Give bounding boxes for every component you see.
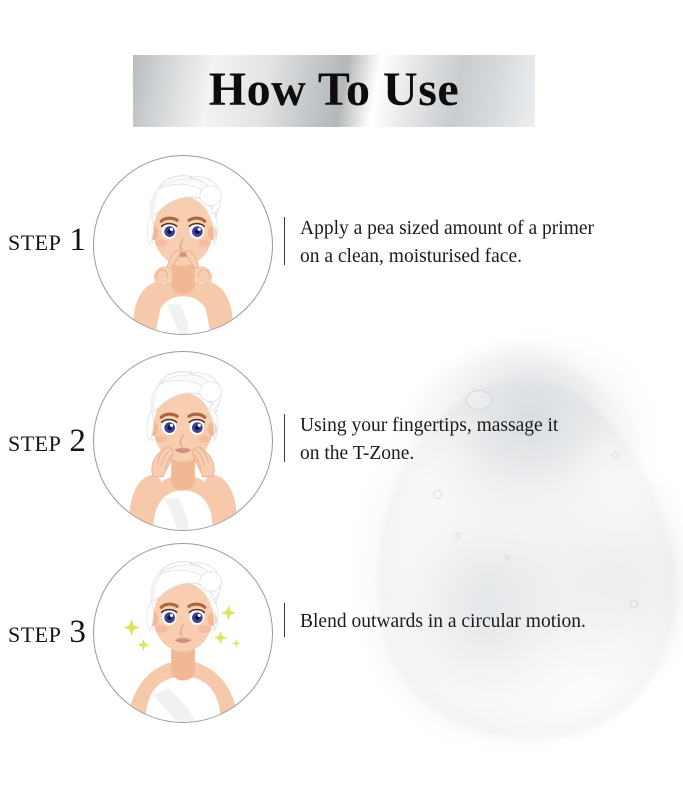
step-word-1: STEP xyxy=(8,230,61,256)
gel-bubble-icon xyxy=(505,555,510,560)
step-illustration-3 xyxy=(93,543,273,723)
page-title: How To Use xyxy=(133,55,535,127)
how-to-use-infographic: How To Use STEP 1 xyxy=(0,0,683,800)
step-number-3: 3 xyxy=(69,614,86,651)
step-divider-3 xyxy=(284,603,285,637)
gel-blob-upper xyxy=(379,286,680,534)
step-label-2: STEP 2 xyxy=(8,423,86,460)
step-label-1: STEP 1 xyxy=(8,222,86,259)
step-text-2: Using your fingertips, massage it on the… xyxy=(300,412,665,467)
step-illustration-1 xyxy=(93,155,273,335)
step-text-3: Blend outwards in a circular motion. xyxy=(300,608,665,636)
step-number-2: 2 xyxy=(69,423,86,460)
step-illustration-2 xyxy=(93,351,273,531)
step-text-1: Apply a pea sized amount of a primer on … xyxy=(300,215,665,270)
step-divider-1 xyxy=(284,217,285,265)
gel-bubble-icon xyxy=(466,390,492,410)
step-divider-2 xyxy=(284,414,285,462)
step-number-1: 1 xyxy=(69,222,86,259)
step-word-3: STEP xyxy=(8,622,61,648)
gel-bubble-icon xyxy=(630,600,638,608)
gel-blob-main xyxy=(314,322,683,782)
gel-bubble-icon xyxy=(455,533,461,539)
gel-bubble-icon xyxy=(433,490,442,499)
gel-blob-tail xyxy=(290,489,620,800)
step-label-3: STEP 3 xyxy=(8,614,86,651)
step-word-2: STEP xyxy=(8,431,61,457)
